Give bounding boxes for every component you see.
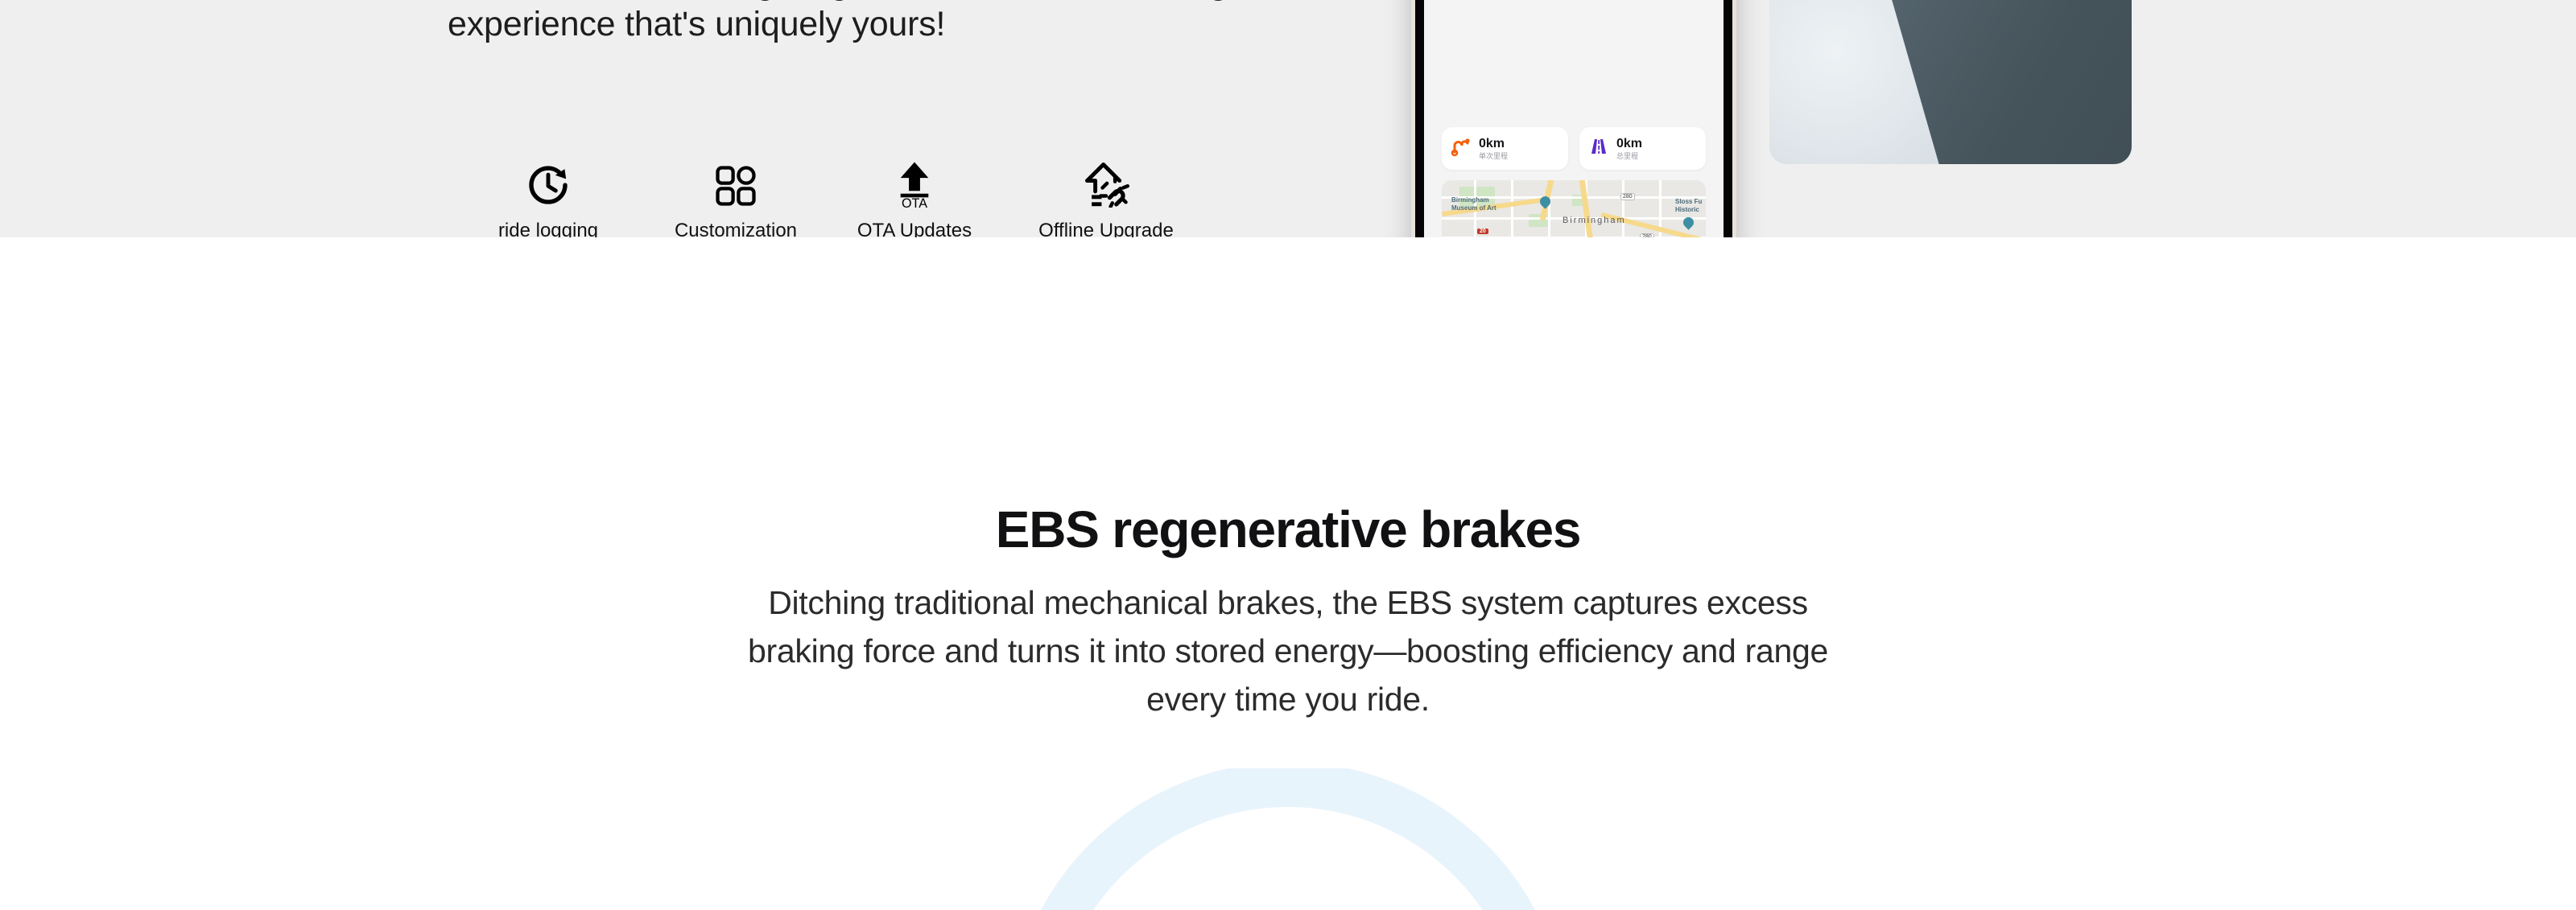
stat-sublabel: 总里程 [1616,151,1642,161]
offline-upgrade-broken-link-icon [1083,158,1129,208]
map-shield-280-a: 280 [1620,193,1635,200]
feature-label: Offline Upgrade [1038,219,1174,237]
phone-screen: 0km 单次里程 [1424,0,1724,237]
app-content: 0km 单次里程 [1424,0,1724,237]
gauge-graphic [982,768,1594,910]
stat-sublabel: 单次里程 [1479,151,1508,161]
stat-value: 0km [1616,137,1642,151]
feature-customization: Customization [649,158,823,237]
winding-route-icon [1451,136,1472,161]
stat-card-total[interactable]: 0km 总里程 [1579,127,1706,170]
ebs-body: Ditching traditional mechanical brakes, … [741,579,1835,723]
hero-band: Dial in ride modes, lighting, and more —… [0,0,2576,237]
feature-label: Customization [675,219,797,237]
feature-ride-logging: ride logging Activity Tracking [448,158,649,237]
lifestyle-photo: Advanced Mode Custom ▾ Acceleration Curv… [1769,0,2132,164]
map-city-label: Birmingham [1563,216,1626,225]
history-clock-icon [526,158,571,208]
feature-list: ride logging Activity Tracking Customiza… [448,158,1206,237]
stat-value: 0km [1479,137,1508,151]
grid-tiles-icon [714,158,758,208]
map-shield-i20: 20 [1477,229,1488,234]
phone-mockup: 0km 单次里程 [1411,0,1736,237]
svg-text:OTA: OTA [902,196,927,208]
feature-label: OTA Updates [857,219,972,237]
ebs-title: EBS regenerative brakes [0,500,2576,558]
road-icon [1588,136,1609,161]
phone-bezel: 0km 单次里程 [1415,0,1732,237]
ota-upload-arrow-icon: OTA [892,158,937,208]
stat-card-trip[interactable]: 0km 单次里程 [1442,127,1568,170]
feature-label: ride logging Activity Tracking [478,219,617,237]
map-preview[interactable]: Birmingham Museum of Art Birmingham Slos… [1442,180,1706,237]
map-sloss-label: Sloss Fu Historic [1675,198,1702,214]
hero-copy-column: Dial in ride modes, lighting, and more —… [0,0,1336,237]
feature-ota-updates: OTA OTA Updates [823,158,1006,237]
feature-offline-upgrade: Offline Upgrade [1006,158,1206,237]
stats-row: 0km 单次里程 [1442,127,1706,170]
map-museum-label: Birmingham Museum of Art [1451,196,1496,212]
hero-lead-line: experience that's uniquely yours! [448,2,945,47]
ebs-section: EBS regenerative brakes Ditching traditi… [0,237,2576,910]
